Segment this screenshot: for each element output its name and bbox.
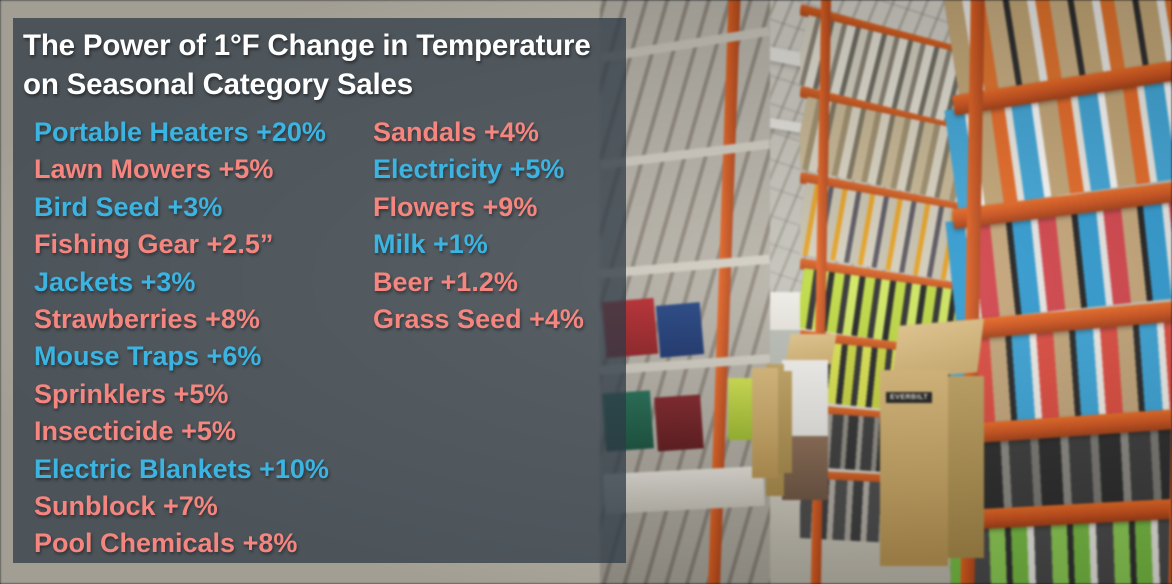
list-item: Grass Seed +4% — [373, 301, 628, 338]
title-line-2: on Seasonal Category Sales — [23, 65, 623, 104]
list-item: Strawberries +8% — [34, 301, 384, 338]
list-item: Pool Chemicals +8% — [34, 525, 384, 562]
everbilt-label: EVERBILT — [886, 392, 932, 403]
everbilt-display-bin: EVERBILT — [880, 370, 984, 570]
list-item: Lawn Mowers +5% — [34, 151, 384, 188]
list-item: Fishing Gear +2.5” — [34, 226, 384, 263]
list-item: Electric Blankets +10% — [34, 451, 384, 488]
green-display-bin — [728, 378, 752, 440]
list-item: Portable Heaters +20% — [34, 114, 384, 151]
info-panel: The Power of 1°F Change in Temperature o… — [13, 18, 626, 563]
list-item: Bird Seed +3% — [34, 189, 384, 226]
list-item: Sprinklers +5% — [34, 376, 384, 413]
list-item: Milk +1% — [373, 226, 628, 263]
list-item: Jackets +3% — [34, 264, 384, 301]
list-item: Sunblock +7% — [34, 488, 384, 525]
list-item: Mouse Traps +6% — [34, 338, 384, 375]
category-column-right: Sandals +4% Electricity +5% Flowers +9% … — [373, 114, 628, 338]
screenshot-stage: EVERBILT The Power of 1°F Change in Temp… — [0, 0, 1172, 584]
category-column-left: Portable Heaters +20% Lawn Mowers +5% Bi… — [34, 114, 384, 563]
title-line-1: The Power of 1°F Change in Temperature — [23, 26, 623, 65]
cardboard-display-small — [752, 368, 792, 480]
list-item: Flowers +9% — [373, 189, 628, 226]
list-item: Insecticide +5% — [34, 413, 384, 450]
right-shelving-rack — [960, 0, 1172, 584]
list-item: Electricity +5% — [373, 151, 628, 188]
list-item: Beer +1.2% — [373, 264, 628, 301]
list-item: Sandals +4% — [373, 114, 628, 151]
page-title: The Power of 1°F Change in Temperature o… — [23, 26, 623, 104]
